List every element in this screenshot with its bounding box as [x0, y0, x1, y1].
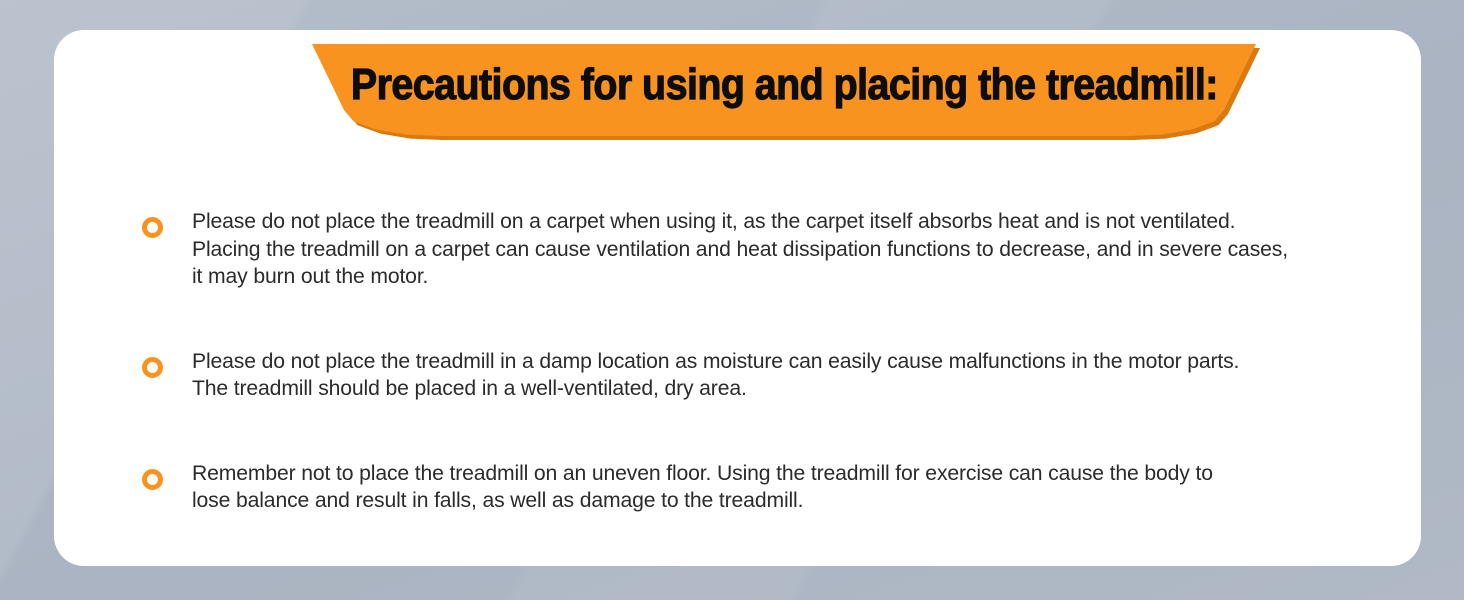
title-banner: Precautions for using and placing the tr…	[312, 44, 1260, 138]
content-card: Precautions for using and placing the tr…	[54, 30, 1421, 566]
title-banner-shape: Precautions for using and placing the tr…	[312, 44, 1256, 136]
page-background: Precautions for using and placing the tr…	[0, 0, 1464, 600]
list-item-text: Please do not place the treadmill on a c…	[192, 208, 1413, 291]
precautions-list: Please do not place the treadmill on a c…	[142, 208, 1432, 515]
list-item: Please do not place the treadmill on a c…	[142, 208, 1432, 291]
ring-bullet-icon	[142, 469, 163, 490]
list-item: Please do not place the treadmill in a d…	[142, 348, 1432, 403]
list-item-text: Remember not to place the treadmill on a…	[192, 460, 1413, 515]
ring-bullet-icon	[142, 217, 163, 238]
page-title: Precautions for using and placing the tr…	[351, 63, 1218, 107]
ring-bullet-icon	[142, 357, 163, 378]
list-item-text: Please do not place the treadmill in a d…	[192, 348, 1413, 403]
list-item: Remember not to place the treadmill on a…	[142, 460, 1432, 515]
